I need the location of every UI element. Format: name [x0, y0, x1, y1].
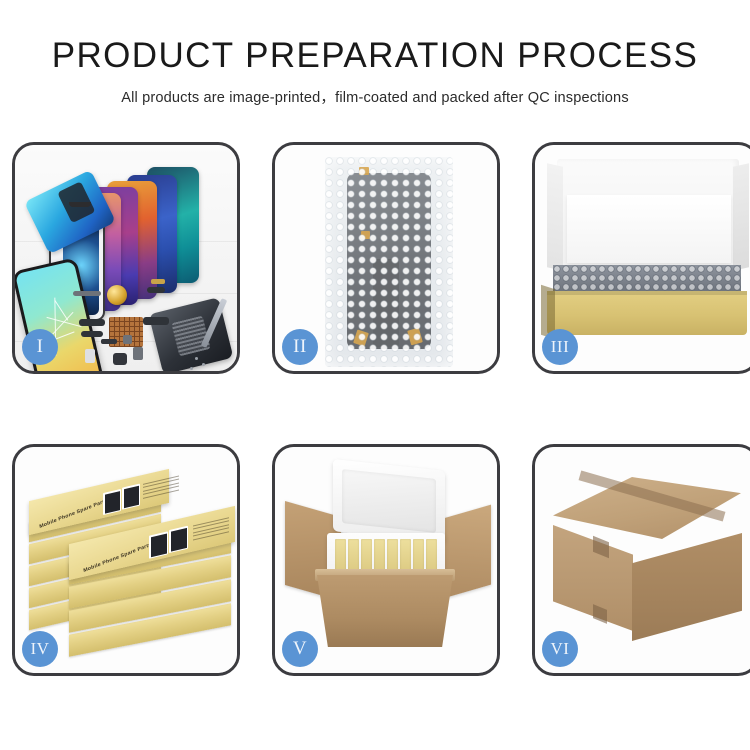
connector-strip: [101, 339, 117, 344]
bubble-texture: [325, 157, 453, 367]
process-step-grid: I II III: [12, 142, 748, 676]
earpiece-part: [73, 291, 101, 296]
page-title: PRODUCT PREPARATION PROCESS: [0, 38, 750, 73]
header: PRODUCT PREPARATION PROCESS All products…: [0, 0, 750, 107]
process-step-panel-5: V: [272, 444, 500, 676]
box-thumbnail-rear-2: [122, 484, 140, 510]
kraft-box-base: [547, 291, 747, 335]
step-badge-4: IV: [22, 631, 58, 667]
box-thumbnail-front-2: [169, 526, 188, 553]
camera-module: [133, 347, 143, 360]
foam-cooler-lid: [333, 459, 445, 543]
product-preparation-infographic: PRODUCT PREPARATION PROCESS All products…: [0, 0, 750, 750]
box-thumbnail-front-1: [149, 531, 168, 558]
gold-contact: [151, 279, 165, 284]
step-badge-1: I: [22, 329, 58, 365]
small-chip: [123, 335, 132, 344]
vibration-motor: [113, 353, 127, 365]
page-subtitle: All products are image-printed，film-coat…: [0, 86, 750, 107]
flex-cable-3: [147, 287, 165, 293]
foam-sheet: [567, 195, 731, 263]
box-spec-lines-front: [193, 517, 229, 542]
box-spec-lines-rear: [143, 476, 179, 501]
flex-cable-4: [143, 317, 169, 325]
bubble-wrap-bag: [325, 157, 453, 367]
process-step-panel-3: III: [532, 142, 750, 374]
process-step-panel-6: VI: [532, 444, 750, 676]
flex-cable-1: [79, 319, 105, 326]
box-thumbnail-rear-1: [103, 489, 121, 515]
step-badge-3: III: [542, 329, 578, 365]
carton-right-face: [632, 533, 742, 641]
process-step-panel-2: II: [272, 142, 500, 374]
flex-cable-2: [81, 331, 103, 337]
sim-tray: [85, 349, 95, 363]
step-badge-6: VI: [542, 631, 578, 667]
step-badge-2: II: [282, 329, 318, 365]
process-step-panel-1: I: [12, 142, 240, 374]
step-badge-5: V: [282, 631, 318, 667]
speaker-component: [107, 285, 127, 305]
kraft-box-stack: Mobile Phone Spare Parts Mobile Phone Sp…: [23, 463, 235, 663]
process-step-panel-4: Mobile Phone Spare Parts Mobile Phone Sp…: [12, 444, 240, 676]
carton-body: [317, 575, 453, 647]
